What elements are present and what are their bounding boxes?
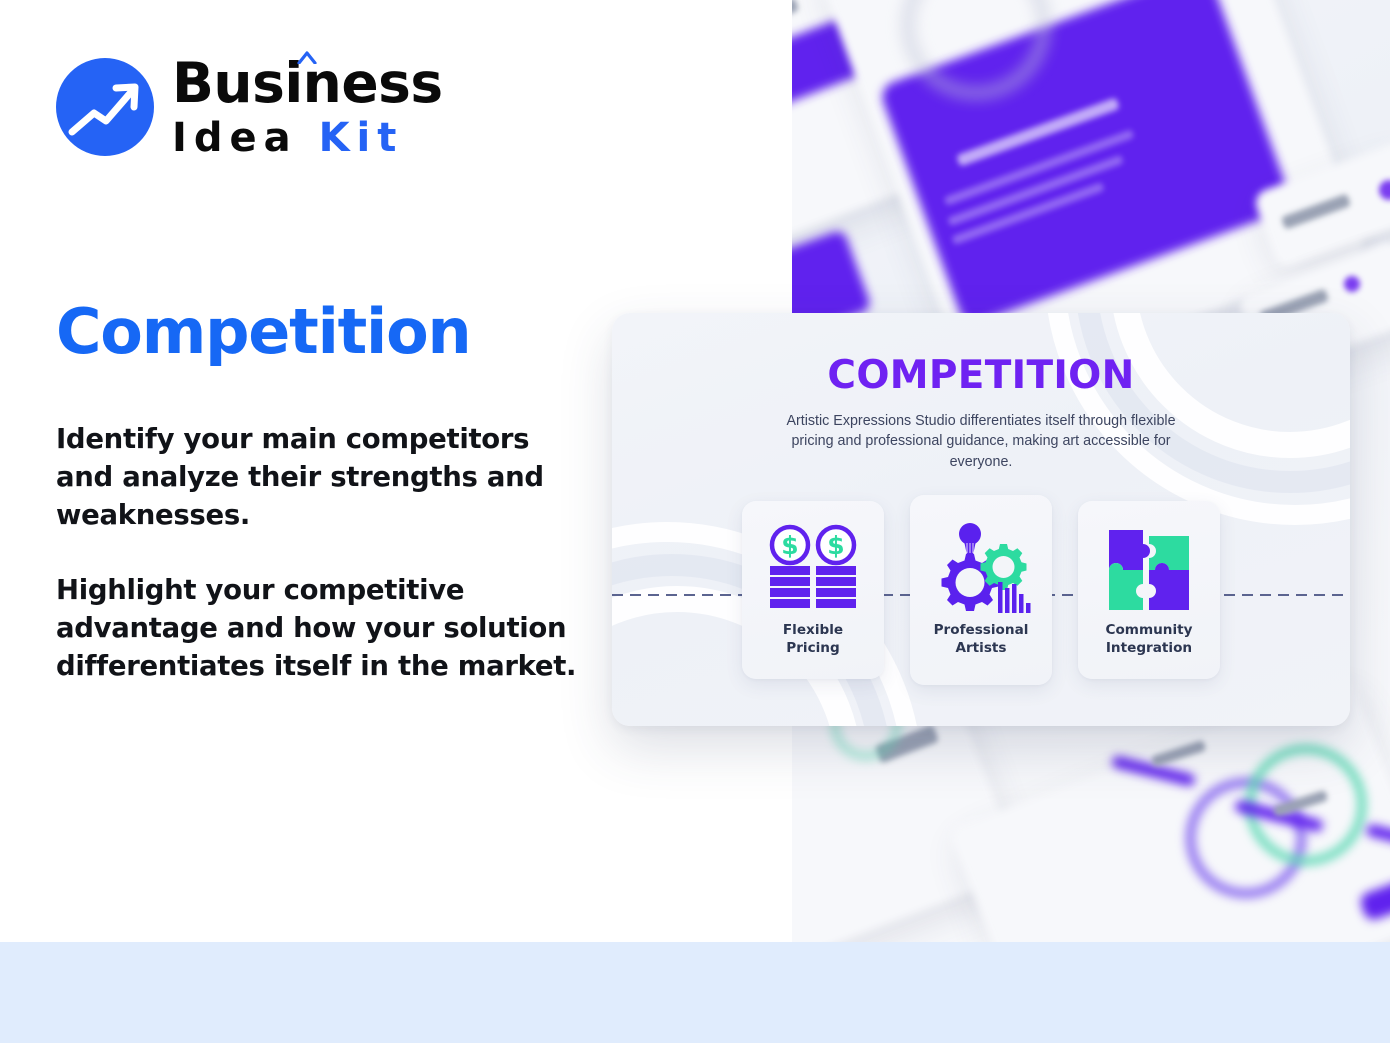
feature-label: Professional Artists [934, 622, 1029, 658]
coin-stacks-dollar-icon: $ $ [763, 522, 863, 618]
body-paragraph-2: Highlight your competitive advantage and… [56, 571, 586, 686]
brand-kit-text: Kit [319, 115, 404, 161]
feature-card-community-integration[interactable]: Community Integration [1078, 501, 1220, 679]
circumflex-accent-icon [297, 51, 317, 64]
trending-up-arrow-icon [56, 58, 154, 156]
brand-name-secondary: Idea Kit [172, 118, 443, 158]
bottom-color-band [0, 942, 1390, 1043]
svg-text:$: $ [827, 531, 844, 560]
puzzle-pieces-icon [1103, 522, 1195, 618]
feature-card-professional-artists[interactable]: Professional Artists [910, 495, 1052, 685]
gear-icon [981, 544, 1027, 590]
feature-label: Flexible Pricing [783, 622, 843, 658]
lightbulb-icon [959, 523, 981, 555]
feature-label: Community Integration [1105, 622, 1192, 658]
brand-name-primary: Business [172, 56, 443, 111]
brand-logo: Business Idea Kit [56, 56, 443, 158]
brand-idea-text: Idea [172, 115, 319, 161]
page-title: Competition [56, 295, 470, 368]
feature-list: $ $ [612, 495, 1350, 685]
card-title: COMPETITION [612, 353, 1350, 398]
body-paragraph-1: Identify your main competitors and analy… [56, 420, 586, 535]
slide-canvas: Business Idea Kit Competition Identify y… [0, 0, 1390, 1043]
svg-text:$: $ [781, 531, 798, 560]
gears-lightbulb-chart-icon [929, 522, 1033, 618]
card-description: Artistic Expressions Studio differentiat… [781, 411, 1181, 472]
feature-card-flexible-pricing[interactable]: $ $ [742, 501, 884, 679]
competition-slide-card[interactable]: COMPETITION Artistic Expressions Studio … [612, 313, 1350, 726]
